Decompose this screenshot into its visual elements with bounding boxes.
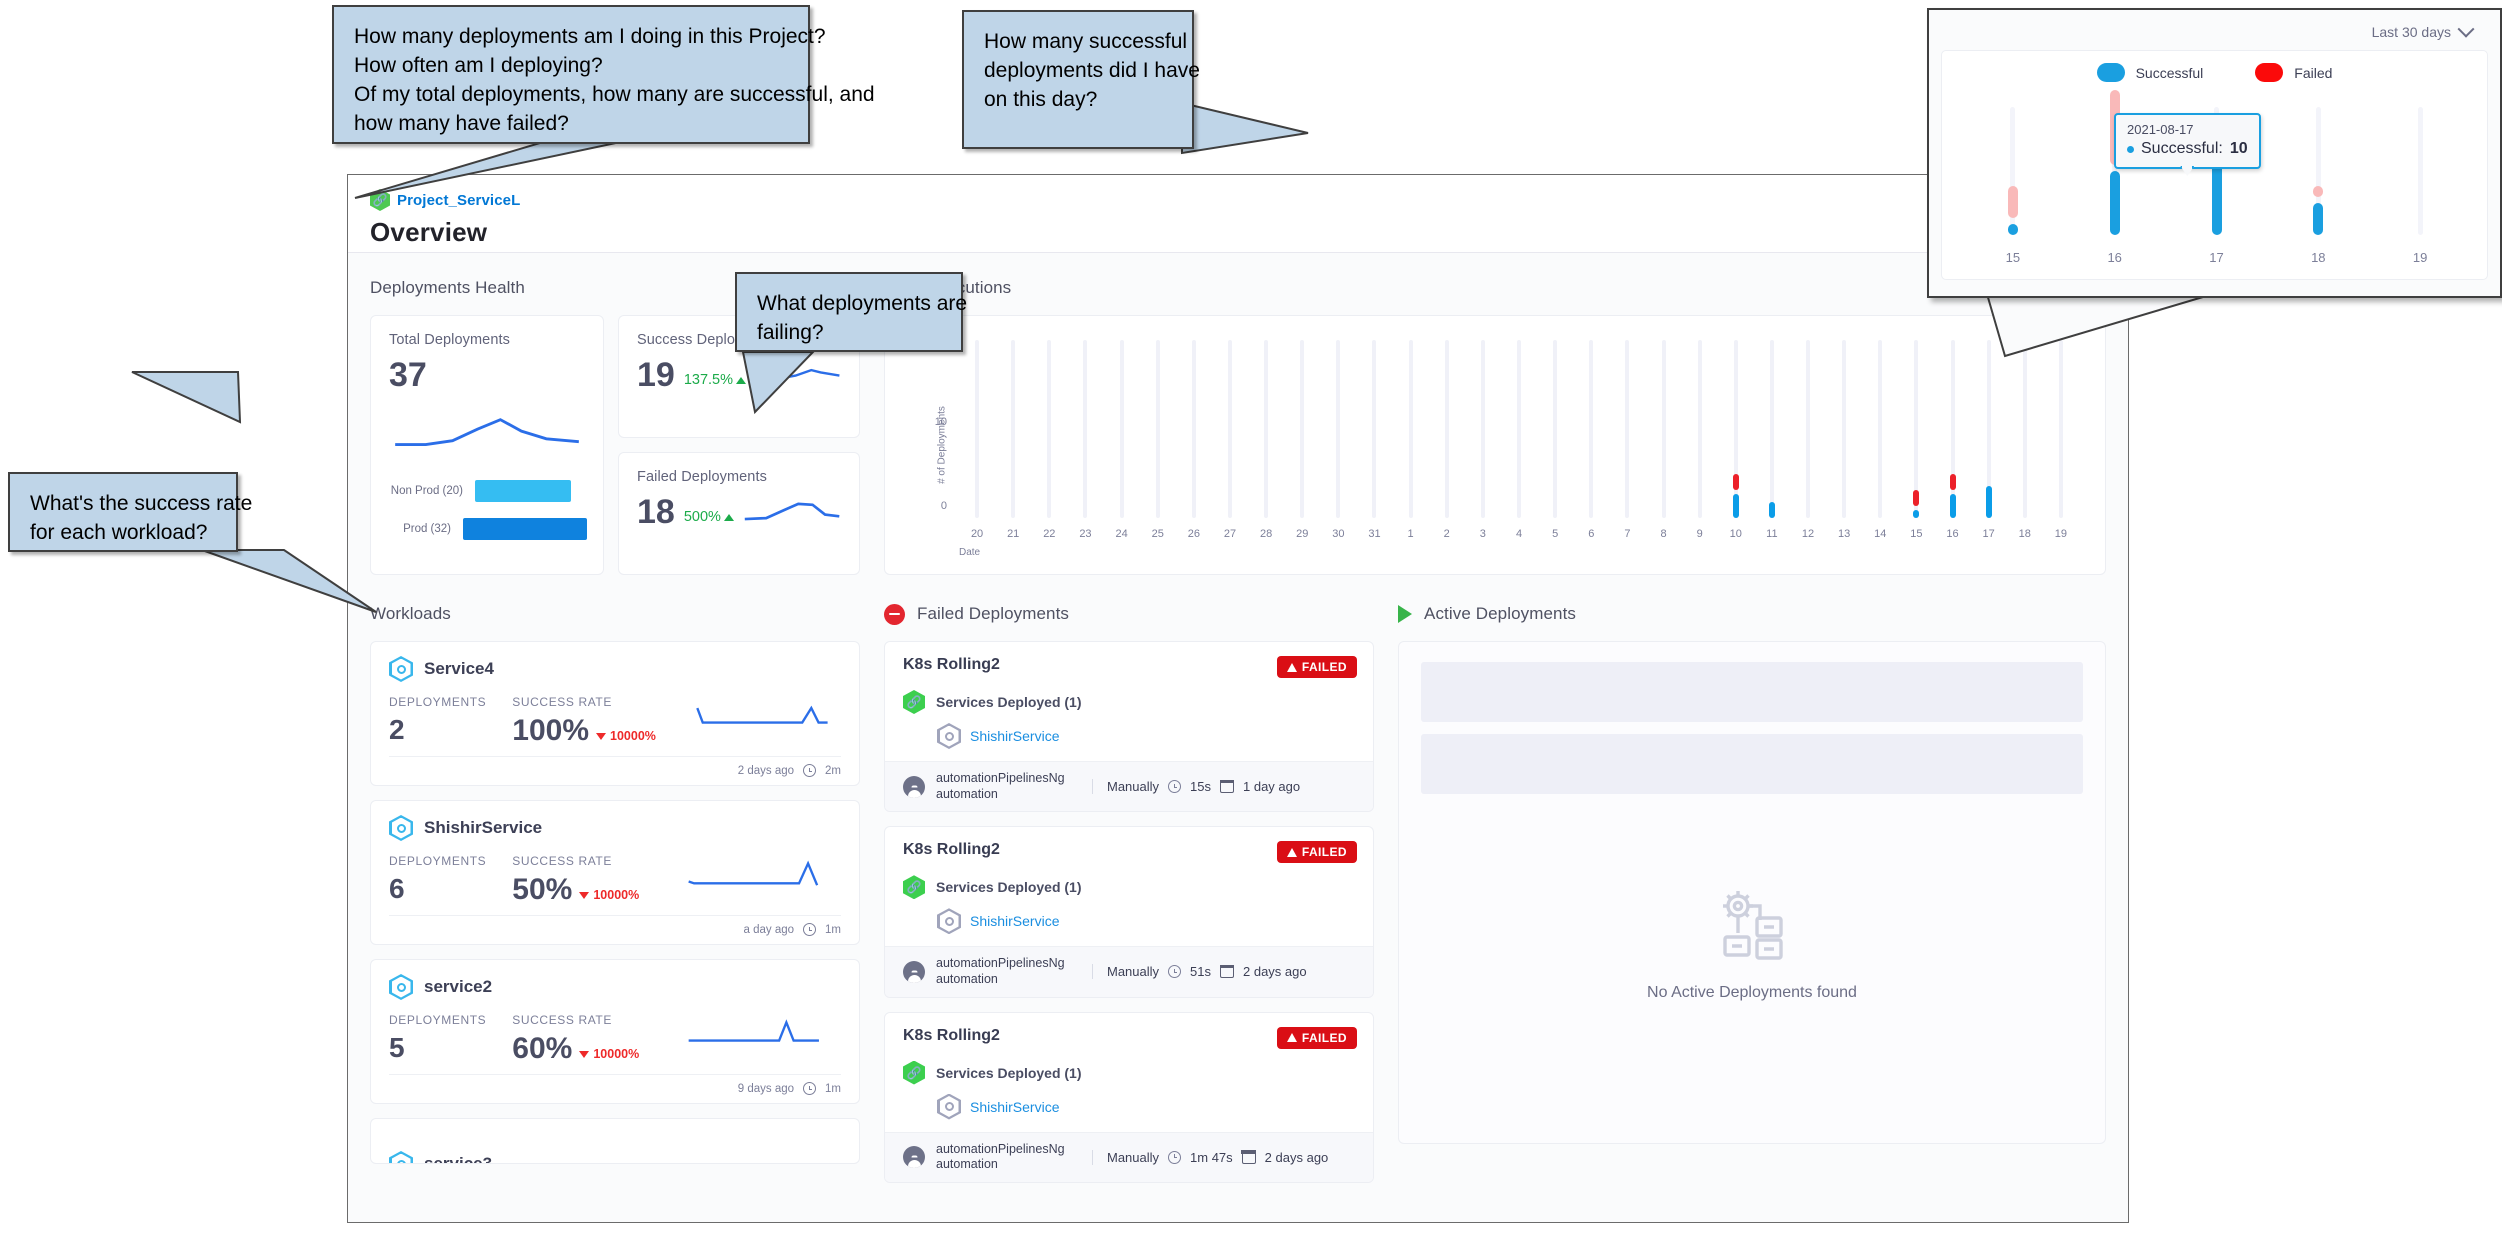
bar-column[interactable] (1841, 340, 1847, 518)
deployment-meta: Manually 15s 1 day ago (1092, 779, 1300, 794)
x-tick: 11 (1761, 528, 1783, 540)
grid-line (1372, 340, 1376, 518)
x-tick: 19 (2050, 528, 2072, 540)
duration: 15s (1190, 779, 1211, 794)
bar-successful[interactable] (2313, 203, 2323, 235)
deployments-stat: DEPLOYMENTS 6 (389, 854, 486, 903)
callout-line: What deployments are (757, 290, 941, 319)
env-bar-prod (463, 518, 587, 540)
bar-column[interactable] (1913, 340, 1919, 518)
row-health-and-builds: Deployments Health Last 7 days Total Dep… (348, 253, 2128, 575)
bars-area (959, 340, 2079, 518)
deployment-meta: Manually 51s 2 days ago (1092, 964, 1307, 979)
x-tick: 7 (1616, 528, 1638, 540)
legend-label: Successful (2136, 65, 2204, 81)
x-tick: 15 (2000, 250, 2026, 265)
callout-line: How many successful (984, 28, 1172, 57)
calendar-icon (1242, 1151, 1256, 1164)
bar-column[interactable] (1191, 340, 1197, 518)
service-hexagon-icon (937, 908, 961, 934)
bar-failed[interactable] (2008, 186, 2018, 218)
zoom-panel-tail (1985, 292, 2225, 362)
services-deployed-icon: 🔗 (903, 1061, 925, 1085)
deployments-caption: DEPLOYMENTS (389, 1013, 486, 1027)
env-bar-nonprod (475, 480, 571, 502)
active-deployments-title: Active Deployments (1424, 604, 1576, 624)
failed-circle-icon (884, 604, 905, 625)
failed-deployments-value: 18 (637, 495, 675, 529)
workload-sparkline (665, 1013, 841, 1055)
workload-name: Service4 (424, 659, 494, 679)
x-tick: 13 (1833, 528, 1855, 540)
bar-column[interactable] (1155, 340, 1161, 518)
success-rate-stat: SUCCESS RATE 100% 10000% (512, 695, 656, 746)
failed-deployments-delta: 500% (684, 509, 734, 529)
env-label: Non Prod (20) (389, 485, 475, 497)
bar-successful[interactable] (2008, 224, 2018, 235)
tooltip-dot-icon (2127, 146, 2134, 153)
active-deployments-section: Active Deployments (1398, 601, 2106, 1197)
legend-swatch (2097, 63, 2125, 82)
trigger-type: Manually (1107, 779, 1159, 794)
grid-line (1047, 340, 1051, 518)
callout-tail (130, 370, 280, 430)
bar-successful[interactable] (2110, 171, 2120, 235)
failed-deployments-label: Failed Deployments (637, 469, 841, 485)
triangle-down-icon (579, 892, 589, 899)
workload-name: ShishirService (424, 818, 542, 838)
x-tick: 30 (1327, 528, 1349, 540)
triggered-by-user: automationPipelinesNg automation (936, 956, 1088, 987)
clock-icon (1168, 1151, 1181, 1164)
bar-column[interactable] (1588, 340, 1594, 518)
workload-card[interactable]: service3 (370, 1118, 860, 1164)
deployments-value: 6 (389, 875, 486, 903)
grid-line (1228, 340, 1232, 518)
clock-icon (803, 923, 816, 936)
delta-value: 10000% (593, 888, 639, 902)
grid-line (1734, 340, 1738, 518)
callout-tail (330, 140, 750, 230)
grid-line (1698, 340, 1702, 518)
callout-successful-day-question: How many successful deployments did I ha… (962, 10, 1194, 149)
grid-line (1878, 340, 1882, 518)
duration: 51s (1190, 964, 1211, 979)
workload-last-deployed: a day ago (744, 924, 795, 936)
row-workloads-failed-active: Workloads Service4 DEPLOYMENTS (348, 575, 2128, 1197)
x-tick: 17 (1978, 528, 2000, 540)
calendar-icon (1220, 965, 1234, 978)
x-tick: 18 (2014, 528, 2036, 540)
bar-failed[interactable] (1913, 490, 1919, 506)
deployment-meta: Manually 1m 47s 2 days ago (1092, 1150, 1328, 1165)
grid-line (2059, 340, 2063, 518)
success-rate-value: 100% (512, 716, 589, 746)
delta-value: 137.5% (684, 372, 733, 388)
grid-line (1264, 340, 1268, 518)
x-tick: 6 (1580, 528, 1602, 540)
chart-tooltip: 2021-08-17 Successful: 10 (2114, 113, 2261, 169)
tooltip-value: 10 (2230, 140, 2248, 158)
grid-line (1589, 340, 1593, 518)
active-deployments-card: No Active Deployments found (1398, 641, 2106, 1144)
x-tick: 21 (1002, 528, 1024, 540)
clock-icon (1168, 965, 1181, 978)
success-deployments-value: 19 (637, 358, 675, 392)
x-tick: 20 (966, 528, 988, 540)
status-text: FAILED (1302, 660, 1347, 674)
grid-line (1517, 340, 1521, 518)
callout-line: on this day? (984, 86, 1172, 115)
bar-column[interactable] (1480, 340, 1486, 518)
callout-tail (200, 548, 390, 620)
zoom-range-value: Last 30 days (2372, 24, 2451, 40)
bar-column[interactable] (2022, 340, 2028, 518)
grid-line (1083, 340, 1087, 518)
user-avatar-icon (903, 776, 925, 798)
bar-column[interactable] (1624, 340, 1630, 518)
grid-line (1409, 340, 1413, 518)
grid-line (1806, 340, 1810, 518)
clock-icon (803, 764, 816, 777)
grid-line (1156, 340, 1160, 518)
workload-card[interactable]: ShishirService DEPLOYMENTS 6 SUCCESS RAT… (370, 800, 860, 945)
x-tick: 5 (1544, 528, 1566, 540)
tooltip-series: Successful: (2141, 140, 2223, 158)
triangle-up-icon (724, 514, 734, 521)
services-deployed-icon: 🔗 (903, 875, 925, 899)
x-tick: 18 (2305, 250, 2331, 265)
workload-duration: 1m (825, 1083, 841, 1095)
service-hexagon-icon (937, 723, 961, 749)
pipeline-name: K8s Rolling2 (903, 841, 1000, 859)
callout-deployments-question: How many deployments am I doing in this … (332, 5, 810, 144)
deployments-caption: DEPLOYMENTS (389, 854, 486, 868)
bar-successful[interactable] (1986, 486, 1992, 518)
trigger-type: Manually (1107, 964, 1159, 979)
deployments-health-title: Deployments Health (370, 278, 525, 298)
trigger-type: Manually (1107, 1150, 1159, 1165)
service-hexagon-icon (389, 815, 413, 841)
bar-column[interactable] (1769, 340, 1775, 518)
bar-column[interactable] (1552, 340, 1558, 518)
bar-column[interactable] (1119, 340, 1125, 518)
status-text: FAILED (1302, 845, 1347, 859)
service-hexagon-icon (389, 656, 413, 682)
grid-line (1553, 340, 1557, 518)
workload-sparkline (665, 854, 841, 896)
bar-column[interactable] (1046, 340, 1052, 518)
x-tick: 24 (1111, 528, 1133, 540)
workload-sparkline (682, 695, 841, 737)
grid-line (2023, 340, 2027, 518)
workload-card[interactable]: Service4 DEPLOYMENTS 2 SUCCESS RATE 100% (370, 641, 860, 786)
bar-column[interactable] (1263, 340, 1269, 518)
x-tick: 29 (1291, 528, 1313, 540)
pipeline-empty-icon (1713, 888, 1791, 966)
workloads-section: Workloads Service4 DEPLOYMENTS (370, 601, 860, 1197)
app-body: Deployments Health Last 7 days Total Dep… (348, 253, 2128, 1223)
warning-triangle-icon (1287, 848, 1297, 857)
grid-line (1300, 340, 1304, 518)
x-tick: 23 (1074, 528, 1096, 540)
x-tick: 16 (1942, 528, 1964, 540)
when: 2 days ago (1265, 1150, 1329, 1165)
legend-item-successful: Successful (2097, 63, 2204, 82)
triangle-down-icon (579, 1051, 589, 1058)
grid-line (1481, 340, 1485, 518)
x-tick: 15 (1905, 528, 1927, 540)
failed-sparkline (743, 495, 841, 529)
skeleton-placeholder (1421, 662, 2083, 722)
callout-line: Of my total deployments, how many are su… (354, 81, 788, 110)
total-deployments-label: Total Deployments (389, 332, 585, 348)
status-badge: FAILED (1277, 1027, 1357, 1049)
x-tick: 16 (2102, 250, 2128, 265)
service-hexagon-icon (389, 1151, 413, 1164)
empty-state-text: No Active Deployments found (1647, 984, 1857, 1002)
bar-column[interactable] (1299, 340, 1305, 518)
when: 1 day ago (1243, 779, 1300, 794)
x-axis-label: Date (959, 547, 980, 558)
bar-successful[interactable] (1733, 494, 1739, 518)
delta-value: 10000% (610, 729, 656, 743)
bar-failed[interactable] (1950, 474, 1956, 490)
app-window: 🔗 Project_ServiceL Overview Deployments … (347, 174, 2129, 1223)
callout-line: how many have failed? (354, 110, 788, 139)
bar-column[interactable] (1227, 340, 1233, 518)
zoom-chart-card[interactable]: Successful Failed 1516171819 2021-08-17 … (1941, 50, 2488, 280)
env-label: Prod (32) (389, 523, 463, 535)
zoom-range-picker[interactable]: Last 30 days (2372, 24, 2472, 40)
success-rate-value: 60% (512, 1034, 572, 1064)
success-rate-delta: 10000% (579, 1047, 639, 1064)
bar-failed[interactable] (1733, 474, 1739, 490)
bar-column[interactable] (1661, 340, 1667, 518)
bar-successful[interactable] (1913, 510, 1919, 518)
legend-swatch (2255, 63, 2283, 82)
callout-success-rate-question: What's the success rate for each workloa… (8, 472, 238, 552)
triangle-down-icon (596, 733, 606, 740)
success-rate-stat: SUCCESS RATE 50% 10000% (512, 854, 639, 905)
warning-triangle-icon (1287, 663, 1297, 672)
bar-column[interactable] (974, 340, 980, 518)
workload-card[interactable]: service2 DEPLOYMENTS 5 SUCCESS RATE 60% (370, 959, 860, 1104)
bar-column[interactable] (1371, 340, 1377, 518)
x-tick: 17 (2204, 250, 2230, 265)
total-deployments-sparkline (389, 412, 585, 458)
bar-failed[interactable] (2313, 186, 2323, 197)
tooltip-value-row: Successful: 10 (2127, 140, 2248, 158)
bar-column[interactable] (1010, 340, 1016, 518)
callout-line: What's the success rate (30, 490, 216, 519)
clock-icon (803, 1082, 816, 1095)
grid-line (1011, 340, 1015, 518)
service-link[interactable]: ShishirService (970, 913, 1059, 929)
x-tick: 12 (1797, 528, 1819, 540)
x-tick: 25 (1147, 528, 1169, 540)
service-link[interactable]: ShishirService (970, 728, 1059, 744)
user-avatar-icon (903, 961, 925, 983)
failed-deployments-card[interactable]: Failed Deployments 18 500% (618, 452, 860, 575)
grid-line (1192, 340, 1196, 518)
skeleton-placeholder (1421, 734, 2083, 794)
x-tick: 1 (1400, 528, 1422, 540)
total-deployments-value: 37 (389, 358, 585, 392)
failed-deployment-card[interactable]: K8s Rolling2 FAILED 🔗 Services Deployed … (884, 641, 1374, 812)
service-link[interactable]: ShishirService (970, 1099, 1059, 1115)
bar-successful[interactable] (1769, 502, 1775, 518)
bar-column[interactable] (1516, 340, 1522, 518)
failed-deployment-card[interactable]: K8s Rolling2 FAILED 🔗 Services Deployed … (884, 826, 1374, 997)
callout-failing-deployments-question: What deployments are failing? (735, 272, 963, 352)
success-rate-stat: SUCCESS RATE 60% 10000% (512, 1013, 639, 1064)
deployments-stat: DEPLOYMENTS 2 (389, 695, 486, 744)
chart-legend: Successful Failed (1942, 51, 2487, 82)
success-rate-caption: SUCCESS RATE (512, 695, 656, 709)
play-triangle-icon (1398, 605, 1412, 623)
bar-column[interactable] (1697, 340, 1703, 518)
bar-column[interactable] (1877, 340, 1883, 518)
legend-label: Failed (2294, 65, 2332, 81)
x-tick: 8 (1653, 528, 1675, 540)
bar-column[interactable] (1082, 340, 1088, 518)
deployments-value: 5 (389, 1034, 486, 1062)
failed-deployments-section: Failed Deployments K8s Rolling2 FAILED (884, 601, 1374, 1197)
build-executions-section: Build Executions # of Deployments 20 10 … (884, 275, 2106, 575)
callout-tail (1180, 95, 1310, 165)
total-deployments-card[interactable]: Total Deployments 37 Non Prod (20) (370, 315, 604, 575)
x-tick: 10 (1725, 528, 1747, 540)
env-bar-row: Prod (32) (389, 518, 587, 540)
delta-value: 500% (684, 509, 721, 525)
y-tick: 0 (923, 500, 947, 512)
grid-line (1770, 340, 1774, 518)
workload-name: service3 (424, 1154, 492, 1164)
x-tick: 31 (1363, 528, 1385, 540)
bar-column[interactable] (1335, 340, 1341, 518)
triggered-by-user: automationPipelinesNg automation (936, 1142, 1088, 1173)
grid-line (1842, 340, 1846, 518)
clock-icon (1168, 780, 1181, 793)
x-tick: 19 (2407, 250, 2433, 265)
x-tick: 28 (1255, 528, 1277, 540)
triggered-by-user: automationPipelinesNg automation (936, 771, 1088, 802)
user-avatar-icon (903, 1146, 925, 1168)
grid-line (1951, 340, 1955, 518)
bar-column[interactable] (1444, 340, 1450, 518)
workload-last-deployed: 9 days ago (738, 1083, 794, 1095)
success-rate-caption: SUCCESS RATE (512, 1013, 639, 1027)
bar-column[interactable] (1950, 340, 1956, 518)
callout-tail (735, 350, 855, 418)
service-hexagon-icon (389, 974, 413, 1000)
x-tick: 26 (1183, 528, 1205, 540)
env-bar-row: Non Prod (20) (389, 480, 587, 502)
success-rate-value: 50% (512, 875, 572, 905)
success-rate-delta: 10000% (596, 729, 656, 746)
build-executions-chart-card[interactable]: # of Deployments 20 10 0 Date 2021222324… (884, 315, 2106, 575)
pipeline-name: K8s Rolling2 (903, 656, 1000, 674)
grid-line (1625, 340, 1629, 518)
services-deployed-label: Services Deployed (1) (936, 694, 1082, 710)
x-tick: 9 (1689, 528, 1711, 540)
zoom-popup-panel: Last 30 days Successful Failed 151617181… (1927, 8, 2502, 298)
grid-line (1336, 340, 1340, 518)
workload-duration: 1m (825, 924, 841, 936)
tooltip-date: 2021-08-17 (2127, 122, 2248, 137)
grid-line (1120, 340, 1124, 518)
pipeline-name: K8s Rolling2 (903, 1027, 1000, 1045)
bar-successful[interactable] (1950, 494, 1956, 518)
bar-column[interactable] (1805, 340, 1811, 518)
services-deployed-icon: 🔗 (903, 690, 925, 714)
y-tick: 10 (923, 416, 947, 428)
success-rate-delta: 10000% (579, 888, 639, 905)
grid-line (1445, 340, 1449, 518)
build-executions-plot: # of Deployments 20 10 0 Date 2021222324… (901, 328, 2089, 562)
callout-line: for each workload? (30, 519, 216, 548)
callout-line: failing? (757, 319, 941, 348)
workload-last-deployed: 2 days ago (738, 765, 794, 777)
status-text: FAILED (1302, 1031, 1347, 1045)
deployments-stat: DEPLOYMENTS 5 (389, 1013, 486, 1062)
failed-deployment-card[interactable]: K8s Rolling2 FAILED 🔗 Services Deployed … (884, 1012, 1374, 1183)
x-tick: 27 (1219, 528, 1241, 540)
x-tick: 2 (1436, 528, 1458, 540)
bar-column[interactable] (1986, 340, 1992, 518)
x-tick: 22 (1038, 528, 1060, 540)
callout-line: How often am I deploying? (354, 52, 788, 81)
calendar-icon (1220, 780, 1234, 793)
delta-value: 10000% (593, 1047, 639, 1061)
status-badge: FAILED (1277, 656, 1357, 678)
grid-line (1662, 340, 1666, 518)
services-deployed-label: Services Deployed (1) (936, 879, 1082, 895)
callout-line: deployments did I have (984, 57, 1172, 86)
deployments-caption: DEPLOYMENTS (389, 695, 486, 709)
services-deployed-label: Services Deployed (1) (936, 1065, 1082, 1081)
x-tick: 3 (1472, 528, 1494, 540)
bar-column[interactable] (2058, 340, 2064, 518)
warning-triangle-icon (1287, 1033, 1297, 1042)
x-tick: 14 (1869, 528, 1891, 540)
chevron-down-icon (2458, 21, 2475, 38)
duration: 1m 47s (1190, 1150, 1233, 1165)
status-badge: FAILED (1277, 841, 1357, 863)
grid-line (2418, 107, 2423, 235)
x-tick: 4 (1508, 528, 1530, 540)
bar-column[interactable] (1733, 340, 1739, 518)
environment-bars: Non Prod (20) Prod (32) (389, 480, 587, 556)
service-hexagon-icon (937, 1094, 961, 1120)
grid-line (975, 340, 979, 518)
legend-item-failed: Failed (2255, 63, 2332, 82)
workload-duration: 2m (825, 765, 841, 777)
when: 2 days ago (1243, 964, 1307, 979)
workload-name: service2 (424, 977, 492, 997)
deployments-value: 2 (389, 716, 486, 744)
bar-column[interactable] (1408, 340, 1414, 518)
success-rate-caption: SUCCESS RATE (512, 854, 639, 868)
callout-line: How many deployments am I doing in this … (354, 23, 788, 52)
failed-deployments-title: Failed Deployments (917, 604, 1069, 624)
